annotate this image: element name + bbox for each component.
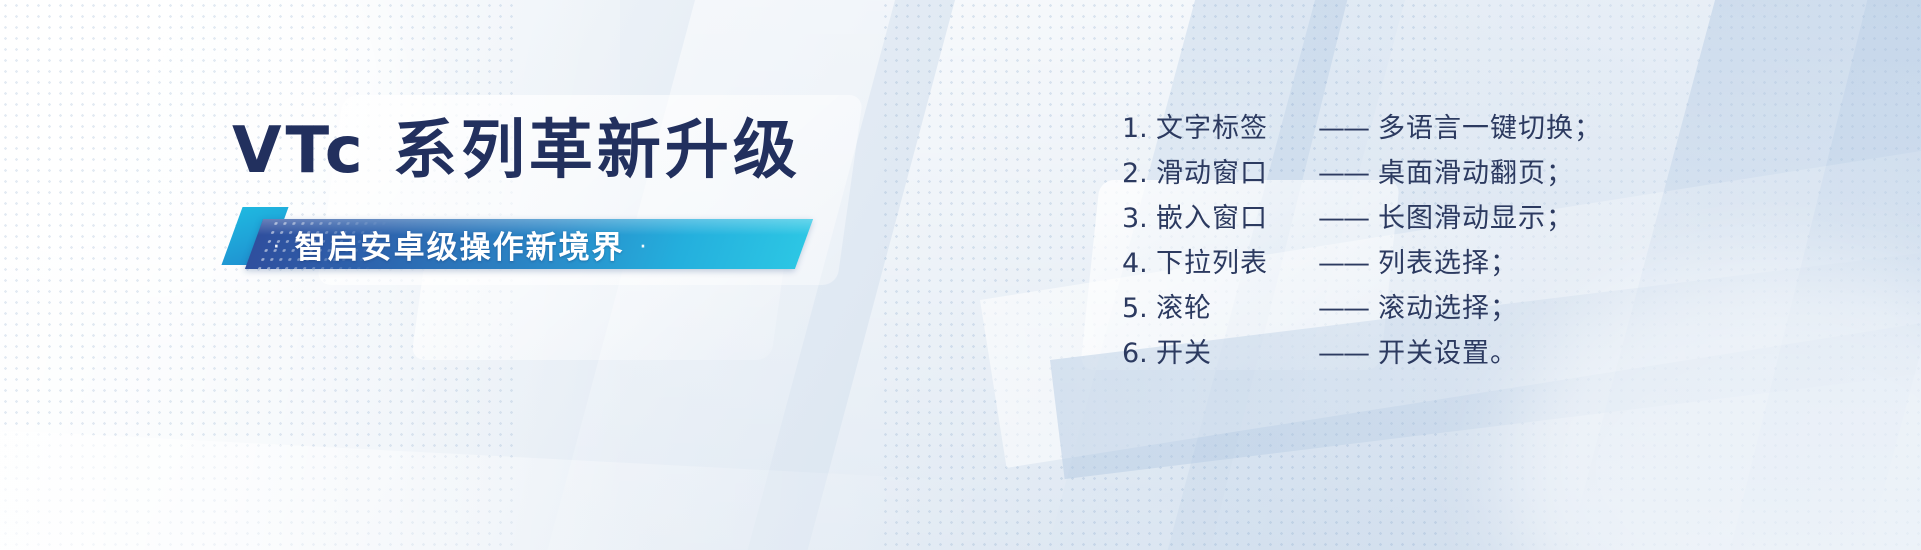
background-shard-e <box>537 0 903 550</box>
feature-index: 2. <box>1122 151 1156 196</box>
feature-row: 4. 下拉列表 —— 列表选择； <box>1122 241 1602 286</box>
feature-row: 5. 滚轮 —— 滚动选择； <box>1122 286 1602 331</box>
bullet-dot-left: · <box>272 231 281 257</box>
feature-name: 滑动窗口 <box>1156 151 1308 196</box>
headline-block: VTc 系列革新升级 · 智启安卓级操作新境界 · <box>232 118 872 269</box>
feature-row: 6. 开关 —— 开关设置。 <box>1122 331 1602 376</box>
feature-dash: —— <box>1308 151 1378 196</box>
feature-description: 多语言一键切换； <box>1378 106 1602 151</box>
feature-index: 3. <box>1122 196 1156 241</box>
feature-dash: —— <box>1308 241 1378 286</box>
feature-dash: —— <box>1308 106 1378 151</box>
feature-description: 滚动选择； <box>1378 286 1518 331</box>
feature-name: 嵌入窗口 <box>1156 196 1308 241</box>
feature-row: 3. 嵌入窗口 —— 长图滑动显示； <box>1122 196 1602 241</box>
feature-name: 下拉列表 <box>1156 241 1308 286</box>
promo-banner: VTc 系列革新升级 · 智启安卓级操作新境界 · 1. 文字标签 —— 多语言… <box>0 0 1921 550</box>
feature-description: 桌面滑动翻页； <box>1378 151 1574 196</box>
feature-index: 4. <box>1122 241 1156 286</box>
subtitle-text: 智启安卓级操作新境界 <box>295 222 625 267</box>
feature-dash: —— <box>1308 286 1378 331</box>
background-diagonal-band-3 <box>0 430 999 550</box>
background-wash-left <box>0 0 620 550</box>
feature-name: 滚轮 <box>1156 286 1308 331</box>
feature-list: 1. 文字标签 —— 多语言一键切换； 2. 滑动窗口 —— 桌面滑动翻页； 3… <box>1122 106 1602 376</box>
feature-description: 长图滑动显示； <box>1378 196 1574 241</box>
dot-pattern-left <box>0 0 520 550</box>
feature-description: 列表选择； <box>1378 241 1518 286</box>
feature-dash: —— <box>1308 331 1378 376</box>
feature-index: 6. <box>1122 331 1156 376</box>
subtitle-text-row: · 智启安卓级操作新境界 · <box>272 219 812 269</box>
feature-index: 5. <box>1122 286 1156 331</box>
page-title: VTc 系列革新升级 <box>232 118 872 185</box>
feature-row: 1. 文字标签 —— 多语言一键切换； <box>1122 106 1602 151</box>
feature-description: 开关设置。 <box>1378 331 1518 376</box>
feature-name: 文字标签 <box>1156 106 1308 151</box>
feature-name: 开关 <box>1156 331 1308 376</box>
feature-row: 2. 滑动窗口 —— 桌面滑动翻页； <box>1122 151 1602 196</box>
feature-dash: —— <box>1308 196 1378 241</box>
feature-index: 1. <box>1122 106 1156 151</box>
background-shard-d <box>1554 0 1921 550</box>
bullet-dot-right: · <box>639 231 648 257</box>
subtitle-banner: · 智启安卓级操作新境界 · <box>232 207 812 269</box>
